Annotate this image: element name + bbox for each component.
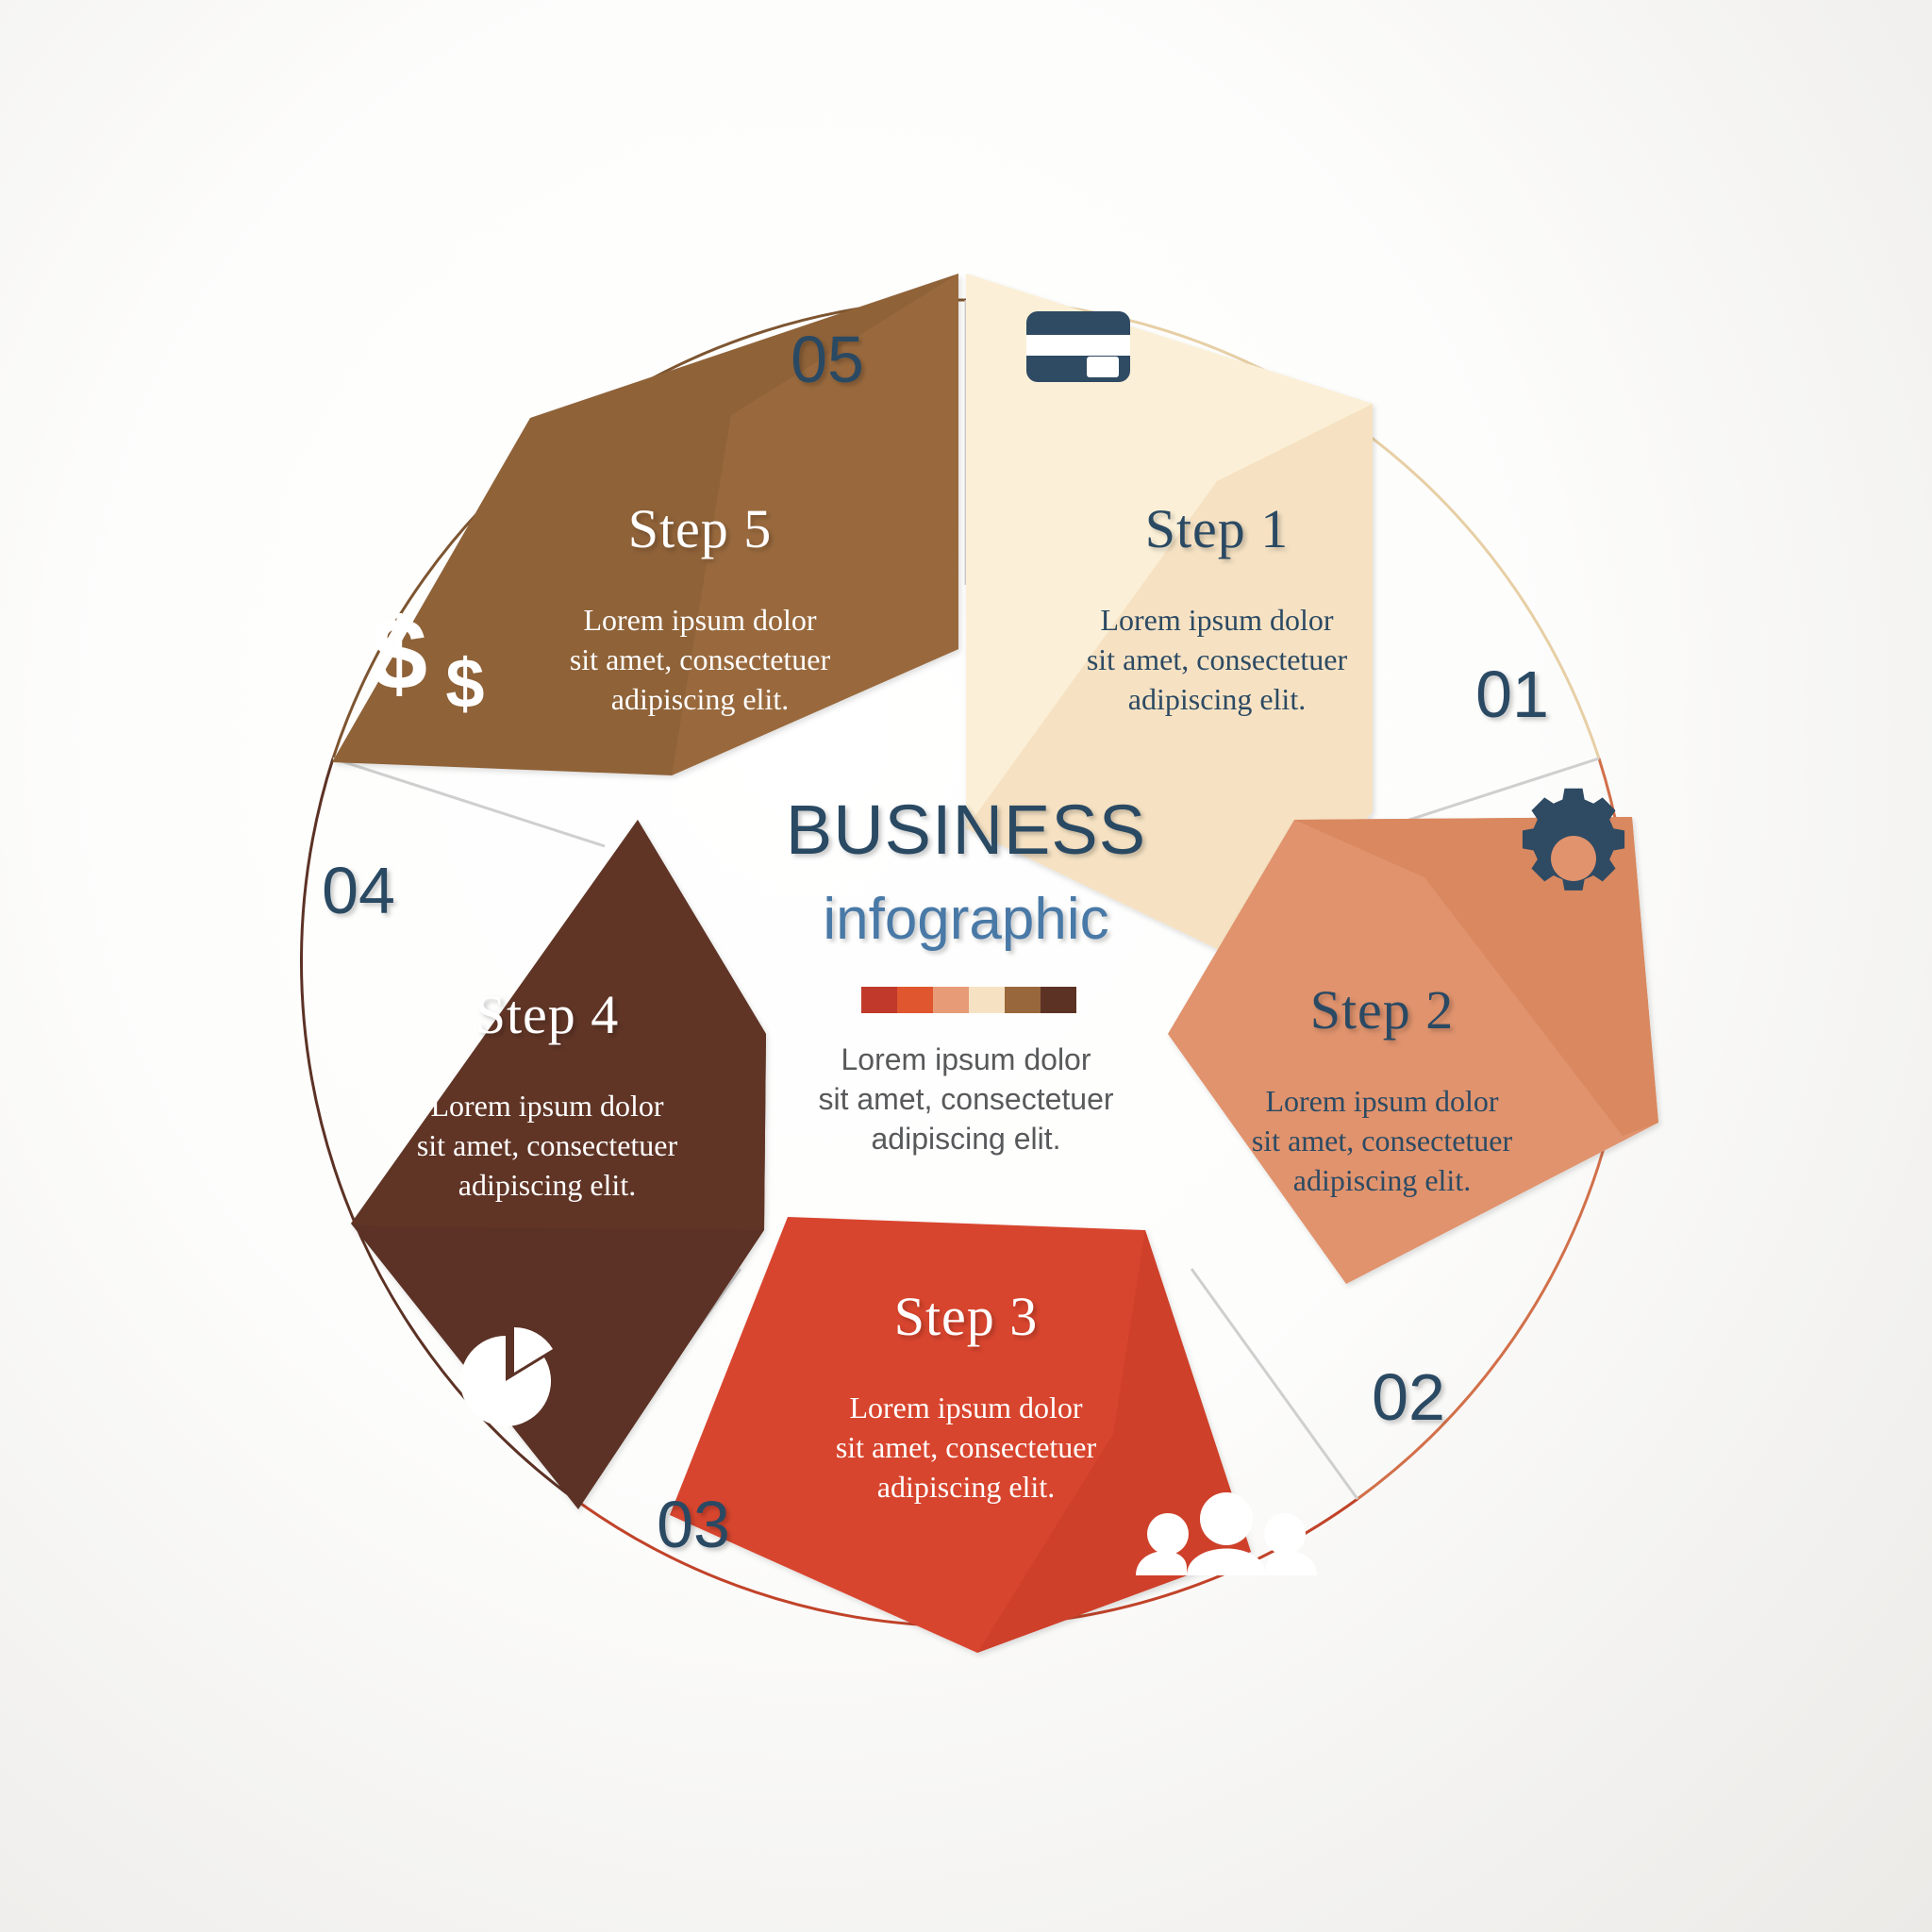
step-4-title: Step 4	[475, 984, 620, 1045]
infographic-canvas: Step 1 Lorem ipsum dolor sit amet, conse…	[0, 0, 1932, 1932]
step-1-title: Step 1	[1145, 498, 1290, 559]
step-1-number: 01	[1475, 658, 1549, 731]
swatch-5	[1041, 987, 1076, 1013]
swatch-0	[861, 987, 897, 1013]
step-2-body-line2: sit amet, consectetuer	[1252, 1124, 1513, 1158]
step-4-body-line1: Lorem ipsum dolor	[430, 1089, 663, 1123]
step-3-number: 03	[657, 1488, 730, 1561]
svg-text:$: $	[445, 644, 484, 723]
swatch-3	[969, 987, 1005, 1013]
step-4-number: 04	[322, 854, 395, 927]
segment-step-4[interactable]	[351, 820, 766, 1509]
step-3-body-line2: sit amet, consectetuer	[836, 1430, 1097, 1464]
center-body-line3: adipiscing elit.	[872, 1122, 1061, 1156]
step-1-body-line1: Lorem ipsum dolor	[1100, 603, 1333, 637]
step-5-body-line3: adipiscing elit.	[611, 682, 789, 716]
center-subtitle: infographic	[823, 887, 1108, 952]
step-5-title: Step 5	[628, 498, 773, 559]
step-1-body-line3: adipiscing elit.	[1128, 682, 1306, 716]
step-1-body-line2: sit amet, consectetuer	[1087, 642, 1348, 676]
svg-text:$: $	[371, 596, 427, 710]
step-4-body-line2: sit amet, consectetuer	[417, 1128, 678, 1162]
step-3-body-line1: Lorem ipsum dolor	[849, 1391, 1082, 1424]
circular-infographic: Step 1 Lorem ipsum dolor sit amet, conse…	[0, 0, 1932, 1932]
step-5-body-line2: sit amet, consectetuer	[570, 642, 831, 676]
step-5-number: 05	[791, 323, 864, 396]
center-title: BUSINESS	[786, 791, 1146, 869]
step-2-title: Step 2	[1310, 979, 1455, 1041]
center-body-line1: Lorem ipsum dolor	[841, 1042, 1091, 1076]
divider-5	[333, 758, 605, 846]
step-2-body-line3: adipiscing elit.	[1293, 1163, 1471, 1197]
step-5-body-line1: Lorem ipsum dolor	[583, 603, 816, 637]
step-2-body-line1: Lorem ipsum dolor	[1265, 1084, 1498, 1118]
center-swatch-bar	[861, 987, 1076, 1013]
center-body-line2: sit amet, consectetuer	[818, 1082, 1113, 1116]
swatch-1	[897, 987, 933, 1013]
step-2-number: 02	[1372, 1360, 1445, 1434]
icon-credit-card-icon	[1026, 311, 1130, 382]
step-3-title: Step 3	[894, 1286, 1039, 1347]
step-3-body-line3: adipiscing elit.	[877, 1470, 1055, 1504]
swatch-2	[933, 987, 969, 1013]
swatch-4	[1005, 987, 1041, 1013]
step-4-body-line3: adipiscing elit.	[458, 1168, 636, 1202]
